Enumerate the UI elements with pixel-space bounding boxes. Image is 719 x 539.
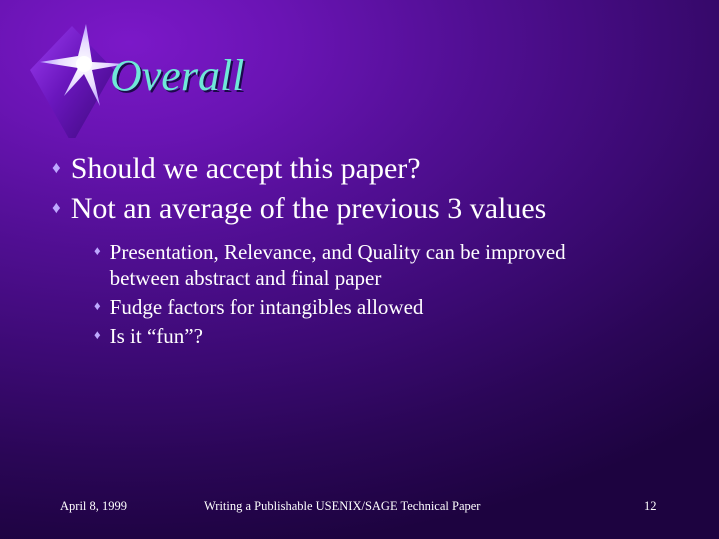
page-title: Overall [110,54,244,98]
bullet-text: Not an average of the previous 3 values [71,190,547,228]
sub-bullet-item-3: ♦ Is it “fun”? [94,323,695,349]
footer-title: Writing a Publishable USENIX/SAGE Techni… [204,499,480,514]
sub-bullet-item-2: ♦ Fudge factors for intangibles allowed [94,294,695,320]
footer-date: April 8, 1999 [60,499,127,514]
slide-canvas: Overall ♦ Should we accept this paper? ♦… [0,0,719,539]
sub-bullet-item-1: ♦ Presentation, Relevance, and Quality c… [94,239,695,291]
slide-footer: April 8, 1999 Writing a Publishable USEN… [0,499,719,517]
diamond-bullet-icon: ♦ [94,327,101,343]
diamond-bullet-icon: ♦ [52,157,61,179]
footer-page-number: 12 [644,499,657,514]
sub-bullet-text: Is it “fun”? [110,323,203,349]
bullet-item-2: ♦ Not an average of the previous 3 value… [52,190,695,228]
sub-bullet-text: Presentation, Relevance, and Quality can… [110,239,630,291]
diamond-bullet-icon: ♦ [94,243,101,259]
sub-bullet-list: ♦ Presentation, Relevance, and Quality c… [94,239,695,349]
bullet-text: Should we accept this paper? [71,150,421,188]
diamond-bullet-icon: ♦ [52,197,61,219]
bullet-item-1: ♦ Should we accept this paper? [52,150,695,188]
sub-bullet-text: Fudge factors for intangibles allowed [110,294,424,320]
diamond-bullet-icon: ♦ [94,298,101,314]
slide-body: ♦ Should we accept this paper? ♦ Not an … [52,150,695,352]
